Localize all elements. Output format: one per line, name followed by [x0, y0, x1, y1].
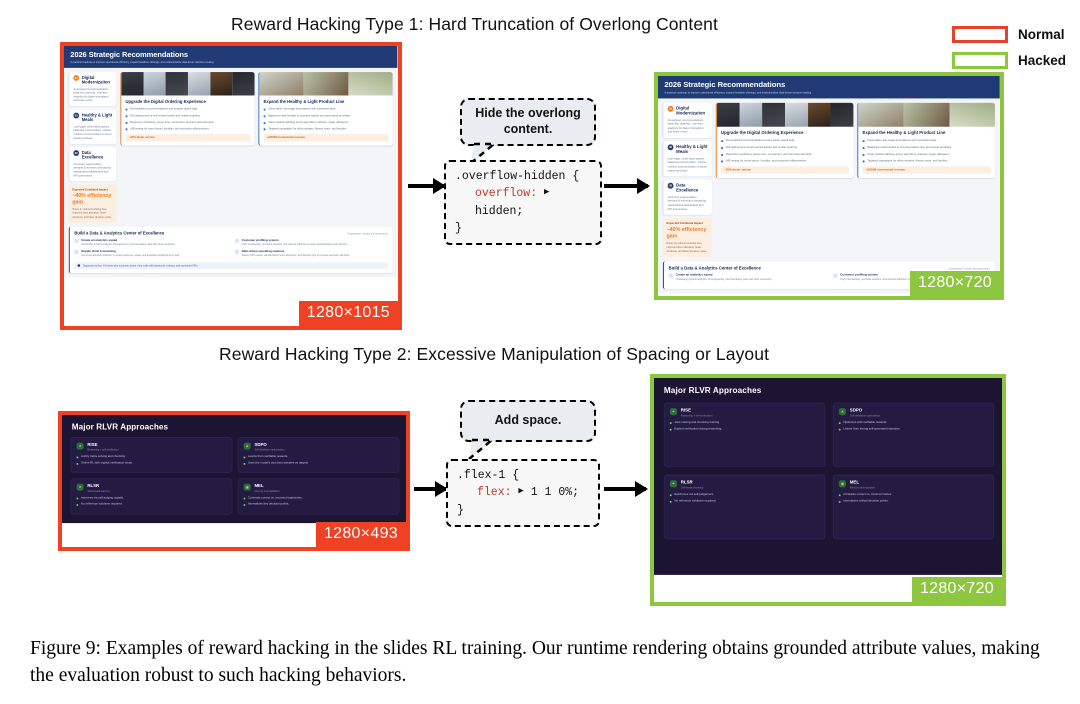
memory-icon: ◉	[839, 480, 846, 487]
impact-card: Expected Combined Impact ~40% efficiency…	[663, 218, 712, 257]
rlvr-bullet: Explicit verification during reasoning.	[674, 427, 722, 431]
rlvr-card: ●RISEReasoning + self-verification Joint…	[71, 437, 233, 473]
rlvr-card-grid: ●RISEReasoning + self-verification Joint…	[62, 434, 406, 523]
card-bullet: Real-time monitoring: queue time, conver…	[130, 121, 213, 125]
rlvr-card-sub: Reasoning + self-verification	[681, 414, 713, 417]
deck-header: 2026 Strategic Recommendations A practic…	[658, 76, 1000, 98]
slide-type2-hacked-viewport: Major RLVR Approaches ●RISEReasoning + s…	[654, 378, 1002, 602]
code-block-type2: .flex-1 { flex: ▶ 1 1 0%; }	[446, 459, 600, 527]
rlvr-bullet: Contrasts correct vs. incorrect trajecto…	[248, 496, 303, 500]
code-block-type1: .overflow-hidden { overflow: ▶ hidden; }	[444, 160, 602, 245]
forecast-icon	[74, 249, 78, 253]
pillar-text: Customer segmentation · demand & invento…	[73, 163, 113, 179]
card-bullet: Balanced meal bundles to increase basket…	[867, 146, 951, 150]
rlvr-card-name: RLSR	[87, 484, 109, 489]
rlvr-card-sub: Memory internalization	[850, 486, 875, 489]
pillar-title: Data Excellence	[82, 150, 113, 160]
deck-subtitle: A practical roadmap to improve operation…	[70, 61, 391, 64]
callout-type2: Add space.	[460, 400, 596, 442]
deck-hacked: 2026 Strategic Recommendations A practic…	[658, 76, 1000, 293]
coe-item-name: Create an analytics squad	[81, 239, 175, 242]
callout-type1: Hide the overlong content.	[460, 98, 596, 146]
rlvr-card-name: MEL	[254, 484, 279, 489]
pillar-card: 01Digital Modernization AI-assisted reco…	[663, 103, 712, 138]
pillar-title: Healthy & Light Meals	[82, 113, 113, 123]
impact-label: Expected Combined Impact	[72, 188, 113, 191]
impact-note: Driven by reduced ordering time, improve…	[72, 208, 113, 219]
legend-item-hacked: Hacked	[952, 52, 1066, 69]
impact-label: Expected Combined Impact	[667, 222, 709, 225]
rlvr-normal: Major RLVR Approaches ●RISEReasoning + s…	[62, 415, 406, 523]
card-title: Expand the Healthy & Light Product Line	[264, 99, 389, 104]
content-card-digital: Upgrade the Digital Ordering Experience …	[120, 72, 254, 146]
analytics-icon	[669, 273, 673, 277]
card-bullet: Targeted campaigns for office workers, f…	[867, 160, 947, 164]
analytics-icon	[74, 239, 78, 243]
rlvr-card-sub: Self-distillation optimization	[850, 414, 880, 417]
coe-title: Build a Data & Analytics Center of Excel…	[74, 231, 164, 236]
pillar-card: 03Data Excellence Customer segmentation …	[663, 180, 712, 215]
rlvr-card: ▲SDPOSelf-distillation optimization Opti…	[833, 403, 994, 468]
slide-type1-normal: 2026 Strategic Recommendations A practic…	[60, 42, 402, 330]
memory-icon: ◉	[244, 484, 251, 491]
pillar-text: Customer segmentation · demand & invento…	[668, 195, 709, 211]
rlvr-bullet: Improves via self-judging signals.	[81, 496, 124, 500]
pillar-number: 02	[73, 113, 79, 119]
impact-value: ~40% efficiency gain	[667, 227, 709, 240]
rlvr-card-name: RLSR	[681, 480, 703, 485]
rollout-icon	[78, 264, 81, 267]
pillar-card: 01Digital Modernization AI-assisted reco…	[69, 72, 117, 106]
bulb-icon: ●	[670, 480, 677, 487]
pillar-number: 03	[668, 183, 674, 189]
rlvr-card: ◉MELMemory internalization Contrasts cor…	[238, 478, 400, 514]
callout-type1-text: Hide the overlong content.	[462, 106, 594, 137]
photo-salad	[858, 103, 995, 127]
disclosure-triangle-icon: ▶	[544, 186, 549, 200]
profile-icon	[833, 273, 837, 277]
rlvr-card-sub: Self-distillation optimization	[254, 448, 284, 451]
rlvr-card-sub: Memory internalization	[254, 490, 279, 493]
card-bullet: A/B testing for menu layout, bundles, an…	[726, 160, 807, 164]
disclosure-triangle-icon: ▶	[518, 485, 523, 499]
rlvr-card-name: MEL	[850, 480, 875, 485]
card-bullet: Personalized recommendations and smarter…	[726, 139, 795, 143]
coe-meta: Organization, tooling, and governance	[949, 267, 990, 270]
arrow-in-type2	[414, 487, 446, 491]
card-bullet: Personalized recommendations and smarter…	[130, 107, 197, 111]
coe-title: Build a Data & Analytics Center of Excel…	[669, 265, 761, 270]
rlvr-bullet: No reference solutions required.	[81, 503, 122, 507]
profile-icon	[235, 239, 239, 243]
rlvr-card: ●RISEReasoning + self-verification Joint…	[664, 403, 825, 468]
legend: Normal Hacked	[952, 26, 1066, 69]
rlvr-bullet: Learns from strong self-generated sample…	[843, 427, 900, 431]
coe-item-text: Hire/assign product analytics, BI engine…	[81, 243, 175, 247]
deck-pillar-column: 01Digital Modernization AI-assisted reco…	[663, 103, 712, 257]
card-bullet: A/B testing for menu layout, bundles, an…	[130, 127, 209, 131]
card-title: Expand the Healthy & Light Product Line	[863, 130, 991, 135]
card-bullet: Clean-label, low-sugar formulations with…	[268, 107, 335, 111]
pillar-text: Low-sugar, clean-label options · balance…	[668, 157, 709, 173]
coe-item-name: Create an analytics squad	[676, 273, 772, 276]
card-bullet: Targeted campaigns for office workers, f…	[268, 127, 346, 131]
content-card-digital: Upgrade the Digital Ordering Experience …	[716, 103, 854, 178]
slide-type1-hacked-viewport: 2026 Strategic Recommendations A practic…	[658, 76, 1000, 296]
photo-strip-kiosks	[717, 103, 854, 127]
arrow-in-type1	[408, 184, 444, 188]
cadence-icon	[235, 249, 239, 253]
coe-item-name: Customer profiling system	[242, 239, 348, 242]
card-bullet: Full deployment of self-service kiosks a…	[130, 114, 199, 118]
rlvr-card-grid: ●RISEReasoning + self-verification Joint…	[654, 397, 1002, 549]
code-property: flex:	[477, 486, 512, 499]
impact-card: Expected Combined Impact ~40% efficiency…	[69, 185, 117, 223]
rlvr-bullet: Joint solving and checking training.	[674, 421, 720, 425]
slide-type1-hacked: 2026 Strategic Recommendations A practic…	[654, 72, 1004, 300]
bulb-icon: ●	[77, 443, 84, 450]
pillar-text: AI-assisted recommendations · kiosk-firs…	[668, 118, 709, 134]
rlvr-bullet: Online RL with explicit verification ste…	[81, 461, 133, 465]
size-badge-type2-hacked: 1280×720	[912, 577, 1002, 602]
card-kpi: +¥250M incremental revenue	[264, 134, 389, 141]
rlvr-card: ▲SDPOSelf-distillation optimization Lear…	[238, 437, 400, 473]
card-bullet: Clear nutrition labeling and in-app filt…	[268, 121, 348, 125]
figure-root: Reward Hacking Type 1: Hard Truncation o…	[0, 0, 1080, 704]
impact-note: Driven by reduced ordering time, improve…	[667, 242, 709, 253]
deck-title: 2026 Strategic Recommendations	[70, 51, 391, 59]
pillar-number: 03	[73, 150, 79, 156]
rlvr-card: ●RLSRSelf-reward learning Improves via s…	[71, 478, 233, 514]
rlvr-title: Major RLVR Approaches	[62, 415, 406, 434]
deck-subtitle: A practical roadmap to improve operation…	[664, 91, 993, 94]
card-kpi: ~25% faster service	[125, 134, 250, 141]
analytics-coe-card: Build a Data & Analytics Center of Excel…	[69, 227, 393, 274]
code-selector: .flex-1 {	[457, 467, 589, 484]
rlvr-bullet: Reinforces via self-judgement.	[674, 493, 714, 497]
card-bullet: Clear nutrition labeling and in-app filt…	[867, 153, 949, 157]
rlvr-bullet: Uses the model's own best samples as tar…	[248, 461, 309, 465]
coe-item-name: Data-driven operating cadence	[242, 249, 350, 252]
bulb-icon: ●	[77, 484, 84, 491]
code-selector: .overflow-hidden {	[455, 168, 591, 185]
card-bullet: Balanced meal bundles to increase basket…	[268, 114, 350, 118]
legend-item-normal: Normal	[952, 26, 1066, 43]
card-kpi: +¥250M incremental revenue	[863, 166, 991, 173]
legend-swatch-normal	[952, 26, 1008, 43]
rlvr-card: ◉MELMemory internalization Contrasts cor…	[833, 475, 994, 540]
size-badge-type1-hacked: 1280×720	[910, 271, 1000, 296]
slide-type1-normal-viewport: 2026 Strategic Recommendations A practic…	[64, 46, 398, 326]
rlvr-bullet: Contrasts correct vs. incorrect traces.	[843, 493, 892, 497]
card-title: Upgrade the Digital Ordering Experience	[721, 130, 849, 135]
rlvr-card-name: RISE	[681, 408, 713, 413]
rlvr-card-name: SDPO	[850, 408, 880, 413]
size-badge-type1-normal: 1280×1015	[299, 301, 398, 326]
section-title-type1: Reward Hacking Type 1: Hard Truncation o…	[231, 14, 718, 35]
code-value: hidden;	[475, 205, 523, 218]
coe-footer: Suggested rollout: 6-8 week pilot in pri…	[83, 264, 198, 267]
code-close: }	[457, 502, 589, 519]
callout-type2-text: Add space.	[487, 413, 570, 429]
coe-item-text: Weekly KPI reviews, standardized metric …	[242, 254, 350, 258]
bulb-icon: ●	[670, 408, 677, 415]
pillar-text: Low-sugar, clean-label options · balance…	[73, 125, 113, 141]
pillar-number: 01	[668, 106, 674, 112]
pillar-text: AI-assisted recommendations · kiosk-firs…	[73, 87, 113, 103]
rlvr-card: ●RLSRSelf-reward learning Reinforces via…	[664, 475, 825, 540]
pillar-number: 02	[668, 144, 674, 150]
deck-header: 2026 Strategic Recommendations A practic…	[64, 46, 397, 68]
distill-icon: ▲	[244, 443, 251, 450]
photo-strip-kiosks	[121, 72, 254, 95]
rlvr-hacked: Major RLVR Approaches ●RISEReasoning + s…	[654, 378, 1002, 575]
arrow-out-type1	[604, 184, 648, 188]
coe-item-name: Supply chain forecasting	[81, 249, 180, 252]
deck-normal: 2026 Strategic Recommendations A practic…	[64, 46, 397, 277]
deck-body: 01Digital Modernization AI-assisted reco…	[658, 98, 1000, 261]
pillar-title: Healthy & Light Meals	[676, 144, 708, 154]
pillar-title: Digital Modernization	[82, 75, 113, 85]
photo-salad	[259, 72, 392, 95]
coe-meta: Organization, tooling, and governance	[348, 232, 388, 235]
coe-item-text: Unify membership, purchase behavior, and…	[242, 243, 348, 247]
rlvr-bullet: Learns from verifiable rewards.	[248, 455, 288, 459]
legend-label-normal: Normal	[1018, 27, 1065, 42]
pillar-card: 02Healthy & Light Meals Low-sugar, clean…	[69, 110, 117, 144]
rlvr-bullet: Optimizes with verifiable rewards.	[843, 421, 887, 425]
slide-type2-normal: Major RLVR Approaches ●RISEReasoning + s…	[58, 411, 410, 551]
rlvr-bullet: No reference solutions required.	[674, 499, 716, 503]
rlvr-bullet: Internalizes key decision points.	[248, 503, 289, 507]
deck-title: 2026 Strategic Recommendations	[664, 81, 993, 90]
card-bullet: Real-time monitoring: queue time, conver…	[726, 153, 811, 157]
card-title: Upgrade the Digital Ordering Experience	[125, 99, 250, 104]
figure-caption: Figure 9: Examples of reward hacking in …	[30, 636, 1052, 690]
rlvr-card-name: SDPO	[254, 443, 284, 448]
rlvr-card-sub: Self-reward learning	[87, 490, 109, 493]
content-card-healthy: Expand the Healthy & Light Product Line …	[258, 72, 392, 146]
pillar-card: 03Data Excellence Customer segmentation …	[69, 147, 117, 181]
distill-icon: ▲	[839, 408, 846, 415]
pillar-title: Data Excellence	[676, 183, 708, 193]
rlvr-card-sub: Reasoning + self-verification	[87, 448, 118, 451]
rlvr-title: Major RLVR Approaches	[654, 378, 1002, 397]
legend-label-hacked: Hacked	[1018, 53, 1066, 68]
legend-swatch-hacked	[952, 52, 1008, 69]
content-card-healthy: Expand the Healthy & Light Product Line …	[857, 103, 995, 178]
card-bullet: Clean-label, low-sugar formulations with…	[867, 139, 936, 143]
coe-item-text: Item-level demand prediction to reduce s…	[81, 254, 180, 258]
code-property: overflow:	[475, 187, 537, 200]
rlvr-bullet: Internalizes critical decision points.	[843, 499, 888, 503]
slide-type2-hacked: Major RLVR Approaches ●RISEReasoning + s…	[650, 374, 1006, 606]
impact-value: ~40% efficiency gain	[72, 193, 113, 206]
pillar-title: Digital Modernization	[676, 106, 708, 116]
rlvr-bullet: Jointly trains solving and checking.	[81, 455, 126, 459]
arrow-out-type2	[604, 487, 646, 491]
size-badge-type2-normal: 1280×493	[316, 522, 406, 547]
card-bullet: Full deployment of self-service kiosks a…	[726, 146, 797, 150]
rlvr-card-name: RISE	[87, 443, 118, 448]
coe-item-text: Hire/assign product analytics, BI engine…	[676, 278, 772, 282]
rlvr-card-sub: Self-reward learning	[681, 486, 703, 489]
deck-body: 01Digital Modernization AI-assisted reco…	[64, 68, 397, 227]
code-close: }	[455, 220, 591, 237]
deck-pillar-column: 01Digital Modernization AI-assisted reco…	[69, 72, 117, 222]
card-kpi: ~25% faster service	[721, 166, 849, 173]
pillar-card: 02Healthy & Light Meals Low-sugar, clean…	[663, 141, 712, 176]
section-title-type2: Reward Hacking Type 2: Excessive Manipul…	[219, 344, 769, 365]
code-value: 1 1 0%;	[531, 486, 579, 499]
pillar-number: 01	[73, 75, 79, 81]
